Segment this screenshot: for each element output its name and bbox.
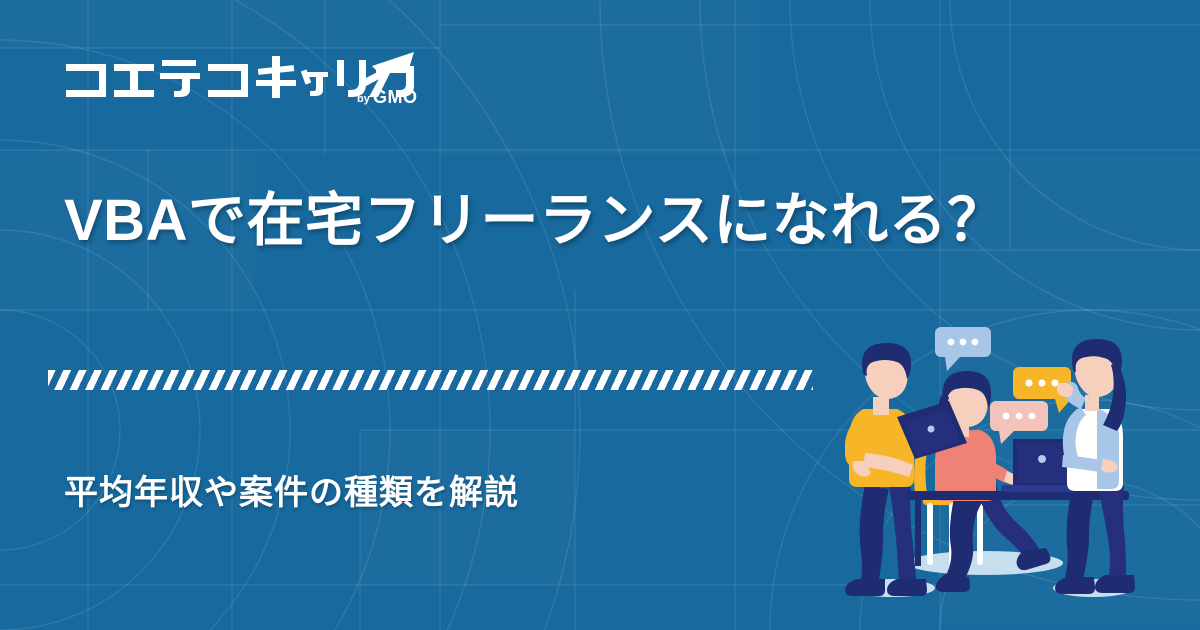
logo-wordmark (66, 56, 414, 98)
svg-text:GMO: GMO (373, 87, 418, 107)
speech-bubble-pink (990, 401, 1048, 444)
page-title: VBAで在宅フリーランスになれる？ (64, 188, 1064, 255)
bg-panel (0, 0, 440, 48)
page-subtitle: 平均年収や案件の種類を解説 (64, 465, 519, 514)
svg-text:by: by (357, 93, 371, 105)
thumbnail-canvas: by GMO VBAで在宅フリーランスになれる？ 平均年収や案件の種類を解説 (0, 0, 1200, 630)
bg-panel (440, 0, 760, 155)
striped-divider (48, 370, 813, 390)
team-discussion-illustration (845, 305, 1200, 615)
speech-bubble-blue (935, 327, 991, 371)
logo-byline: by GMO (357, 87, 418, 107)
site-logo[interactable]: by GMO (62, 50, 462, 112)
